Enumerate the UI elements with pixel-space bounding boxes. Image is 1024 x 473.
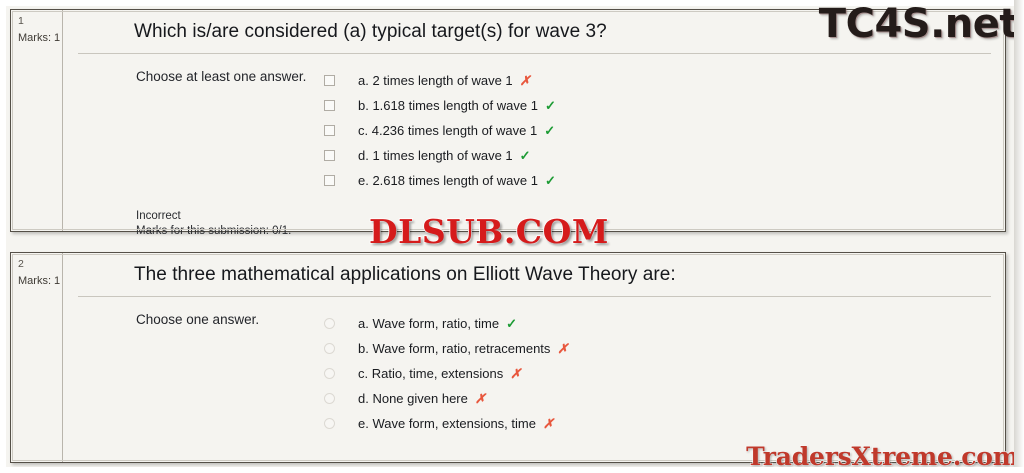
correct-mark-icon: ✓ bbox=[545, 173, 556, 189]
option-row[interactable]: b. Wave form, ratio, retracements ✗ bbox=[324, 336, 1005, 361]
option-row[interactable]: e. Wave form, extensions, time ✗ bbox=[324, 411, 1005, 436]
option-checkbox[interactable] bbox=[324, 175, 358, 186]
option-label: e. Wave form, extensions, time bbox=[358, 416, 536, 432]
option-label: e. 2.618 times length of wave 1 bbox=[358, 173, 538, 189]
option-label: c. 4.236 times length of wave 1 bbox=[358, 123, 537, 139]
question-marks: Marks: 1 bbox=[18, 274, 62, 288]
question-body-1: Which is/are considered (a) typical targ… bbox=[64, 10, 1005, 231]
correct-mark-icon: ✓ bbox=[506, 316, 517, 332]
answer-instruction: Choose at least one answer. bbox=[136, 68, 316, 193]
question-marks-column-1: 1 Marks: 1 bbox=[11, 10, 63, 231]
option-checkbox[interactable] bbox=[324, 150, 358, 161]
option-label: d. 1 times length of wave 1 bbox=[358, 148, 513, 164]
question-feedback-1: Incorrect Marks for this submission: 0/1… bbox=[64, 193, 1005, 238]
feedback-marks: Marks for this submission: 0/1. bbox=[136, 224, 1005, 239]
option-row[interactable]: e. 2.618 times length of wave 1 ✓ bbox=[324, 168, 1005, 193]
option-row[interactable]: b. 1.618 times length of wave 1 ✓ bbox=[324, 93, 1005, 118]
option-row[interactable]: d. 1 times length of wave 1 ✓ bbox=[324, 143, 1005, 168]
question-marks-column-2: 2 Marks: 1 bbox=[11, 253, 63, 462]
option-radio[interactable] bbox=[324, 418, 358, 429]
page-edge-top bbox=[0, 0, 1024, 6]
option-radio[interactable] bbox=[324, 318, 358, 329]
option-radio[interactable] bbox=[324, 343, 358, 354]
option-label: d. None given here bbox=[358, 391, 468, 407]
option-checkbox[interactable] bbox=[324, 100, 358, 111]
wrong-mark-icon: ✗ bbox=[510, 366, 521, 382]
option-checkbox[interactable] bbox=[324, 125, 358, 136]
option-label: b. 1.618 times length of wave 1 bbox=[358, 98, 538, 114]
question-body-2: The three mathematical applications on E… bbox=[64, 253, 1005, 462]
correct-mark-icon: ✓ bbox=[544, 123, 555, 139]
option-radio[interactable] bbox=[324, 393, 358, 404]
question-title: Which is/are considered (a) typical targ… bbox=[64, 10, 1005, 53]
quiz-shell: 1 Marks: 1 Which is/are considered (a) t… bbox=[0, 0, 1024, 473]
option-label: b. Wave form, ratio, retracements bbox=[358, 341, 550, 357]
option-row[interactable]: d. None given here ✗ bbox=[324, 386, 1005, 411]
wrong-mark-icon: ✗ bbox=[520, 73, 531, 89]
option-label: a. 2 times length of wave 1 bbox=[358, 73, 513, 89]
question-card-1: 1 Marks: 1 Which is/are considered (a) t… bbox=[10, 9, 1006, 232]
option-label: a. Wave form, ratio, time bbox=[358, 316, 499, 332]
option-label: c. Ratio, time, extensions bbox=[358, 366, 503, 382]
option-list-2: a. Wave form, ratio, time ✓ b. Wave form… bbox=[316, 311, 1005, 436]
page-edge-bottom bbox=[0, 467, 1024, 473]
answer-instruction: Choose one answer. bbox=[136, 311, 316, 436]
option-row[interactable]: a. 2 times length of wave 1 ✗ bbox=[324, 68, 1005, 93]
answer-area-1: Choose at least one answer. a. 2 times l… bbox=[64, 54, 1005, 193]
option-list-1: a. 2 times length of wave 1 ✗ b. 1.618 t… bbox=[316, 68, 1005, 193]
correct-mark-icon: ✓ bbox=[520, 148, 531, 164]
question-number: 1 bbox=[18, 15, 62, 28]
question-card-2: 2 Marks: 1 The three mathematical applic… bbox=[10, 252, 1006, 463]
option-row[interactable]: c. Ratio, time, extensions ✗ bbox=[324, 361, 1005, 386]
option-checkbox[interactable] bbox=[324, 75, 358, 86]
answer-area-2: Choose one answer. a. Wave form, ratio, … bbox=[64, 297, 1005, 436]
page-edge-right bbox=[1014, 0, 1024, 473]
wrong-mark-icon: ✗ bbox=[557, 341, 568, 357]
page-edge-left bbox=[0, 0, 6, 473]
wrong-mark-icon: ✗ bbox=[475, 391, 486, 407]
correct-mark-icon: ✓ bbox=[545, 98, 556, 114]
question-marks: Marks: 1 bbox=[18, 31, 62, 45]
option-row[interactable]: a. Wave form, ratio, time ✓ bbox=[324, 311, 1005, 336]
quiz-review-page: 1 Marks: 1 Which is/are considered (a) t… bbox=[0, 0, 1024, 473]
question-title: The three mathematical applications on E… bbox=[64, 253, 1005, 296]
wrong-mark-icon: ✗ bbox=[543, 416, 554, 432]
option-row[interactable]: c. 4.236 times length of wave 1 ✓ bbox=[324, 118, 1005, 143]
question-number: 2 bbox=[18, 258, 62, 271]
option-radio[interactable] bbox=[324, 368, 358, 379]
feedback-status: Incorrect bbox=[136, 209, 1005, 224]
